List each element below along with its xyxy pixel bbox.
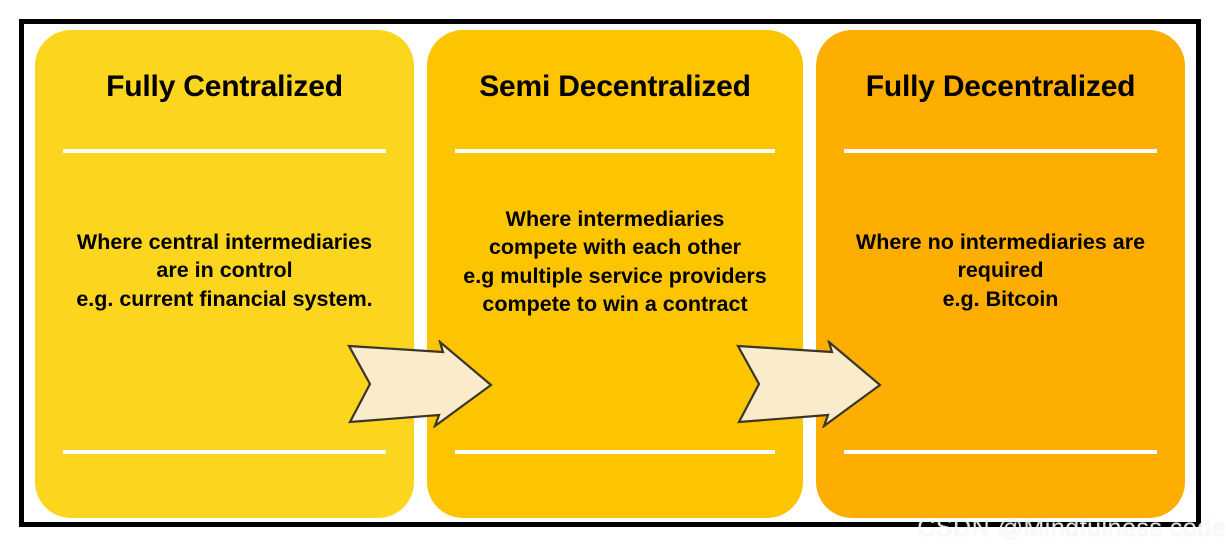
card-group: Fully Centralized Where central intermed… [35, 30, 1185, 518]
card-divider-bottom [455, 450, 775, 454]
card-fully-centralized[interactable]: Fully Centralized Where central intermed… [35, 30, 414, 518]
card-fully-decentralized[interactable]: Fully Decentralized Where no intermediar… [816, 30, 1185, 518]
right-arrow-icon [347, 340, 493, 428]
card-divider-top [844, 149, 1157, 153]
right-arrow-icon [736, 340, 882, 428]
card-body-text: Where intermediaries compete with each o… [435, 205, 795, 319]
card-divider-bottom [844, 450, 1157, 454]
card-divider-top [455, 149, 775, 153]
card-divider-top [63, 149, 386, 153]
diagram-canvas: Fully Centralized Where central intermed… [0, 0, 1226, 545]
card-body-text: Where no intermediaries are required e.g… [824, 228, 1177, 313]
watermark-label: CSDN @Mindfulness code [917, 514, 1226, 543]
card-title: Semi Decentralized [427, 70, 803, 103]
card-title: Fully Centralized [35, 70, 414, 103]
card-semi-decentralized[interactable]: Semi Decentralized Where intermediaries … [427, 30, 803, 518]
card-title: Fully Decentralized [816, 70, 1185, 103]
card-body-text: Where central intermediaries are in cont… [43, 228, 406, 313]
card-divider-bottom [63, 450, 386, 454]
